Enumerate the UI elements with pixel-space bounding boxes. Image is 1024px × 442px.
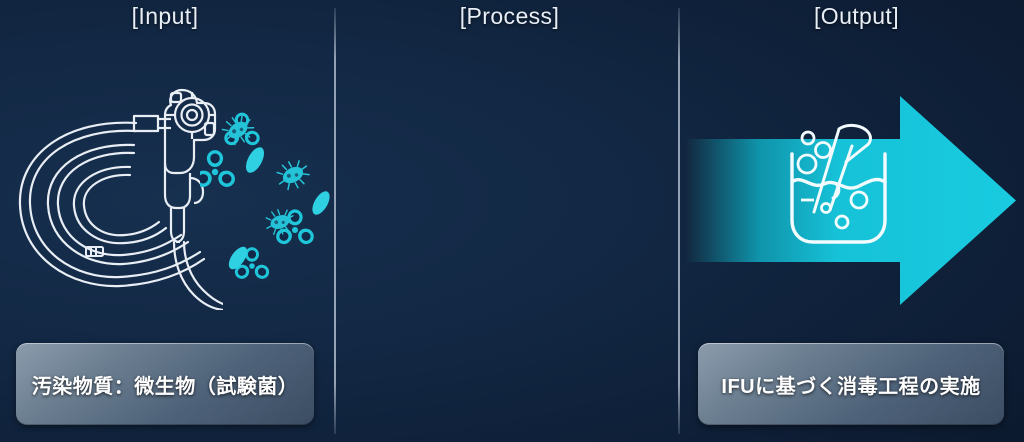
panel-title-output: [Output] [689, 3, 1024, 30]
panel-input: [Input] [0, 0, 330, 442]
infographic-root: [Input] [0, 0, 1024, 442]
caption-input-text: 汚染物質：微生物（試験菌） [32, 370, 299, 399]
panel-title-input: [Input] [0, 3, 330, 30]
panel-title-process: [Process] [341, 3, 678, 30]
biohazard-icon [200, 150, 238, 190]
panel-process: [Process] [341, 0, 678, 442]
caption-input: 汚染物質：微生物（試験菌） [16, 343, 314, 425]
endoscope-illustration [8, 45, 223, 310]
contaminant-microbes-illustration [200, 90, 335, 280]
panel-divider-1 [334, 8, 336, 434]
panel-output: [Output] [689, 0, 1024, 442]
panel-divider-2 [678, 8, 680, 434]
bacillus-icon [225, 144, 333, 272]
bacterium-icon [272, 155, 313, 194]
